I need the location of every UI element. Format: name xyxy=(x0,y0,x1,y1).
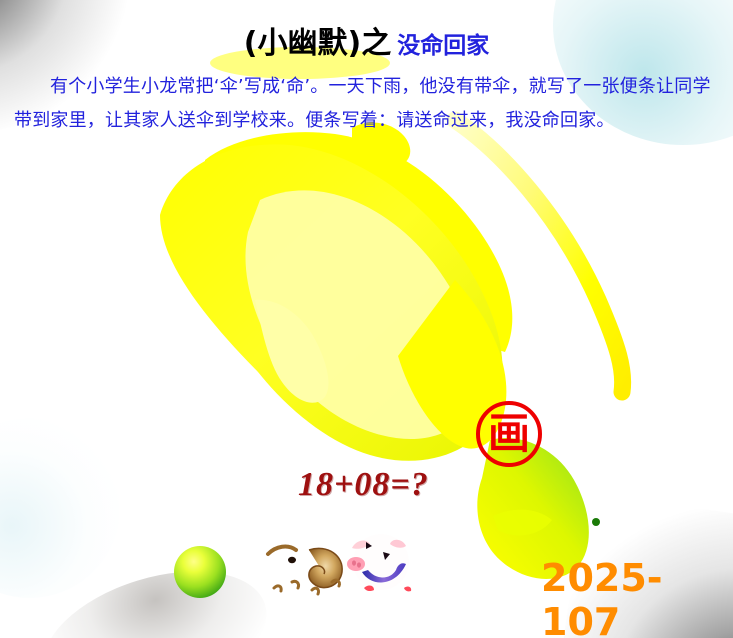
snail-foot-c xyxy=(312,588,319,594)
pig-nostril-left xyxy=(352,560,356,565)
issue-number: 2025-107 xyxy=(541,556,733,638)
yellow-swoosh xyxy=(455,120,623,392)
snail-foot-a xyxy=(274,586,281,591)
artist-seal: 画 xyxy=(476,401,542,467)
title-main-text: (小幽默)之 xyxy=(244,26,391,61)
green-sphere-icon xyxy=(174,546,226,598)
fish-body xyxy=(160,144,503,460)
fish-highlight xyxy=(245,190,478,439)
corner-tint-bottom-left xyxy=(0,418,120,598)
page-title: (小幽默)之没命回家 xyxy=(0,18,733,62)
snail-foot-b xyxy=(292,581,299,588)
seal-character: 画 xyxy=(480,405,538,463)
fish-upper-body xyxy=(205,132,512,352)
title-sub-text: 没命回家 xyxy=(397,33,489,59)
pig-nostril-right xyxy=(357,562,361,567)
snail-eye xyxy=(288,557,296,563)
fish-tail-notch xyxy=(493,510,552,536)
fish-lower-fin xyxy=(255,300,328,403)
snail-antenna xyxy=(268,547,296,554)
snail-icon xyxy=(262,534,350,600)
joke-body-text: 有个小学生小龙常把‘伞’写成‘命’。一天下雨，他没有带伞，就写了一张便条让同学带… xyxy=(14,70,720,138)
poster-canvas: (小幽默)之没命回家 有个小学生小龙常把‘伞’写成‘命’。一天下雨，他没有带伞，… xyxy=(0,0,733,638)
math-equation: 18+08=? xyxy=(298,466,429,504)
pig-face-icon xyxy=(344,530,418,598)
pig-snout xyxy=(347,557,365,571)
pig-blush-right xyxy=(404,587,411,592)
